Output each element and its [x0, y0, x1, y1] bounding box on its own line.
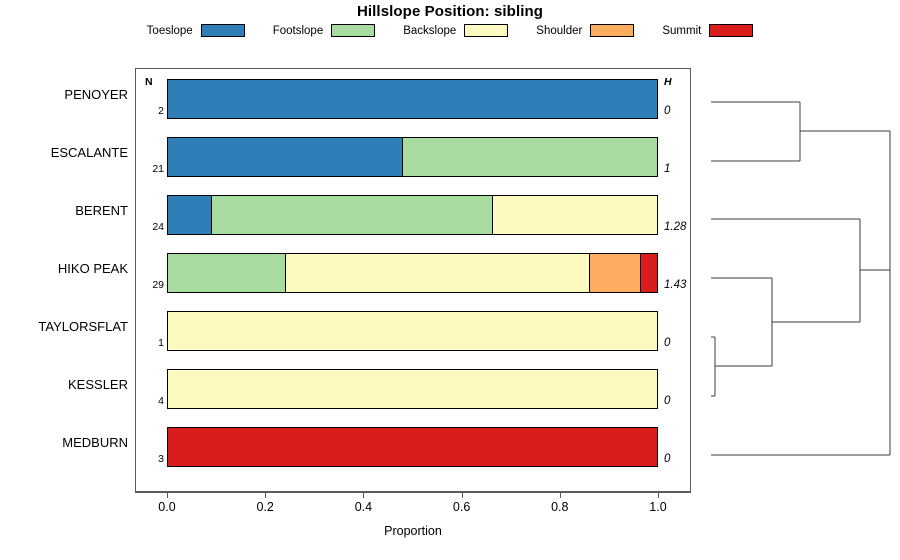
x-tick — [658, 492, 659, 498]
row-count: 29 — [140, 279, 164, 291]
x-tick — [167, 492, 168, 498]
legend-swatch-summit — [709, 24, 753, 37]
row-label-taylorsflat: TAYLORSFLAT — [0, 319, 128, 334]
x-tick-label: 0.8 — [535, 500, 585, 514]
legend: Toeslope Footslope Backslope Shoulder Su… — [0, 24, 900, 37]
x-tick-label: 0.4 — [338, 500, 388, 514]
legend-label: Footslope — [273, 25, 324, 37]
row-label-kessler: KESSLER — [0, 377, 128, 392]
x-axis-line — [135, 492, 691, 493]
page-title: Hillslope Position: sibling — [0, 3, 900, 20]
legend-swatch-toeslope — [201, 24, 245, 37]
row-label-penoyer: PENOYER — [0, 87, 128, 102]
row-label-escalante: ESCALANTE — [0, 145, 128, 160]
bar-segment-footslope — [168, 254, 286, 292]
legend-item-shoulder: Shoulder — [536, 24, 634, 37]
legend-label: Shoulder — [536, 25, 582, 37]
legend-label: Summit — [662, 25, 701, 37]
legend-label: Toeslope — [147, 25, 193, 37]
stacked-bar — [167, 79, 658, 119]
x-tick-label: 0.2 — [240, 500, 290, 514]
row-label-medburn: MEDBURN — [0, 435, 128, 450]
stacked-bar — [167, 427, 658, 467]
x-tick-label: 1.0 — [633, 500, 683, 514]
dendrogram-svg — [691, 68, 900, 492]
legend-swatch-footslope — [331, 24, 375, 37]
x-tick — [560, 492, 561, 498]
bar-segment-backslope — [286, 254, 590, 292]
stacked-bar — [167, 253, 658, 293]
stacked-bar — [167, 369, 658, 409]
bar-segment-summit — [641, 254, 657, 292]
x-tick — [265, 492, 266, 498]
chart-root: Hillslope Position: sibling Toeslope Foo… — [0, 0, 900, 560]
bar-segment-summit — [168, 428, 657, 466]
dendrogram — [691, 68, 900, 492]
row-label-hiko-peak: HIKO PEAK — [0, 261, 128, 276]
legend-swatch-shoulder — [590, 24, 634, 37]
row-label-berent: BERENT — [0, 203, 128, 218]
legend-item-backslope: Backslope — [403, 24, 508, 37]
bar-segment-backslope — [493, 196, 657, 234]
bar-segment-toeslope — [168, 196, 212, 234]
bar-segment-shoulder — [590, 254, 641, 292]
legend-swatch-backslope — [464, 24, 508, 37]
legend-item-footslope: Footslope — [273, 24, 376, 37]
x-axis-title: Proportion — [135, 524, 691, 538]
legend-item-summit: Summit — [662, 24, 753, 37]
stacked-bar — [167, 137, 658, 177]
bar-segment-footslope — [403, 138, 657, 176]
x-tick-label: 0.0 — [142, 500, 192, 514]
bar-segment-backslope — [168, 370, 657, 408]
bar-segment-backslope — [168, 312, 657, 350]
bar-segment-toeslope — [168, 80, 657, 118]
row-count: 4 — [140, 395, 164, 407]
row-count: 3 — [140, 453, 164, 465]
row-count: 21 — [140, 163, 164, 175]
legend-label: Backslope — [403, 25, 456, 37]
bar-segment-toeslope — [168, 138, 403, 176]
row-count: 1 — [140, 337, 164, 349]
stacked-bar — [167, 195, 658, 235]
x-tick — [462, 492, 463, 498]
bar-segment-footslope — [212, 196, 493, 234]
legend-item-toeslope: Toeslope — [147, 24, 245, 37]
x-tick — [363, 492, 364, 498]
row-count: 24 — [140, 221, 164, 233]
stacked-bar — [167, 311, 658, 351]
x-tick-label: 0.6 — [437, 500, 487, 514]
row-count: 2 — [140, 105, 164, 117]
